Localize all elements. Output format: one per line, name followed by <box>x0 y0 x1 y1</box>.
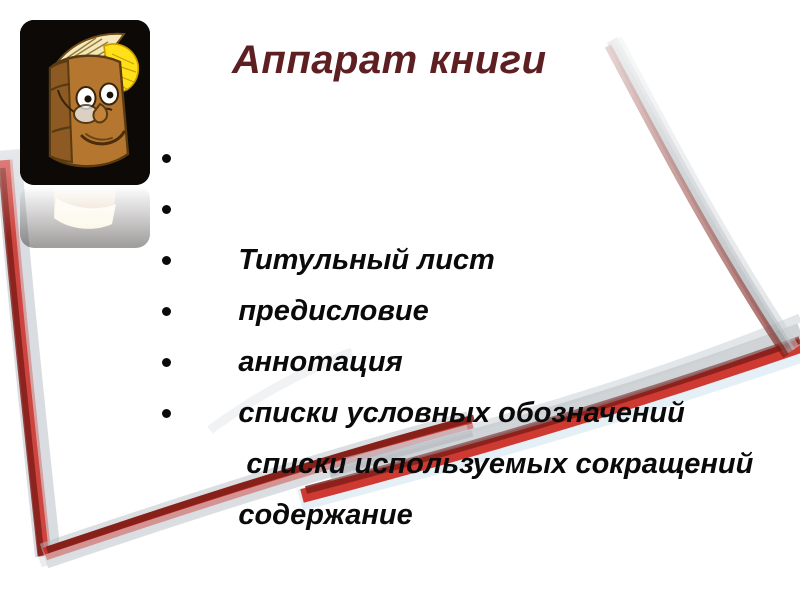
bullet-dot-icon <box>162 358 171 367</box>
bullet-dot-icon <box>162 205 171 214</box>
list-item: содержание <box>158 388 753 439</box>
slide-canvas: Аппарат книги Титульный лист предисловие… <box>0 0 800 600</box>
list-item: списки условных обозначений <box>158 286 753 337</box>
bullet-dot-icon <box>162 307 171 316</box>
bullet-dot-icon <box>162 409 171 418</box>
bullet-list: Титульный лист предисловие аннотация спи… <box>158 133 753 439</box>
list-item-label: содержание <box>238 499 412 531</box>
list-item: предисловие <box>158 184 753 235</box>
list-item: Титульный лист <box>158 133 753 184</box>
list-item: аннотация <box>158 235 753 286</box>
book-character-image <box>20 20 150 185</box>
list-item-label: списки используемых сокращений <box>238 448 753 480</box>
book-image-reflection <box>20 186 150 248</box>
bullet-dot-icon <box>162 256 171 265</box>
list-item: списки используемых сокращений <box>158 337 753 388</box>
slide-title: Аппарат книги <box>232 38 652 83</box>
bullet-dot-icon <box>162 154 171 163</box>
